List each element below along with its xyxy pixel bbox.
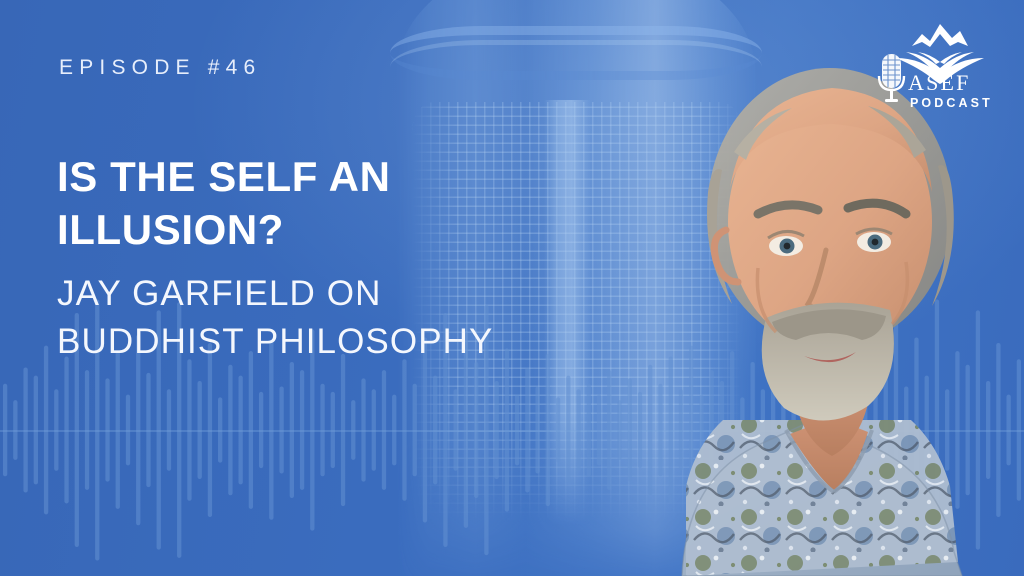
logo-tagline-text: PODCAST xyxy=(910,96,993,110)
logo-brand-text: ASEF xyxy=(908,70,971,95)
retro-microphone-icon xyxy=(879,54,904,102)
asef-podcast-logo[interactable]: ASEF PODCAST xyxy=(870,18,998,114)
episode-cover-canvas: EPISODE #46 IS THE SELF AN ILLUSION? JAY… xyxy=(0,0,1024,576)
mountain-icon xyxy=(912,24,968,47)
